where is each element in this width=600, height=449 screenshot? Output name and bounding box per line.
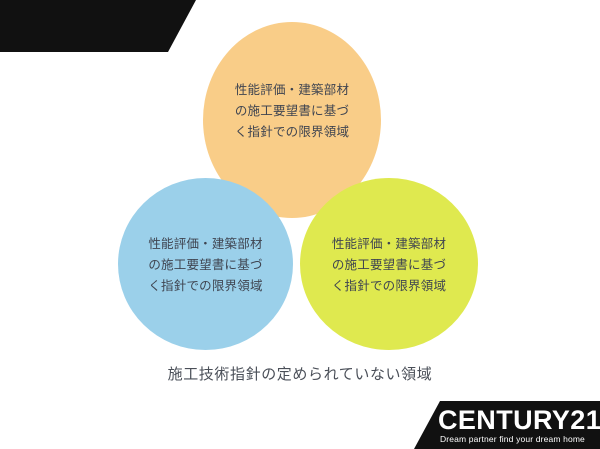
venn-circle-top-text: 性能評価・建築部材 の施工要望書に基づ く指針での限界領域 (229, 80, 355, 143)
slide-canvas: Comment 性能評価・建築部材 の施工要望書に基づ く指針での限界領域 性能… (0, 0, 600, 449)
venn-circle-right: 性能評価・建築部材 の施工要望書に基づ く指針での限界領域 (300, 178, 478, 350)
century21-logo-text: CENTURY21 (438, 405, 600, 435)
comment-banner (0, 0, 196, 52)
logo-banner: CENTURY21 Dream partner find your dream … (414, 401, 600, 449)
diagram-caption: 施工技術指針の定められていない領域 (0, 364, 600, 386)
venn-circle-left: 性能評価・建築部材 の施工要望書に基づ く指針での限界領域 (118, 178, 293, 350)
venn-circle-right-text: 性能評価・建築部材 の施工要望書に基づ く指針での限界領域 (326, 234, 452, 297)
venn-circle-left-text: 性能評価・建築部材 の施工要望書に基づ く指針での限界領域 (142, 234, 268, 297)
century21-tagline: Dream partner find your dream home (440, 434, 585, 445)
